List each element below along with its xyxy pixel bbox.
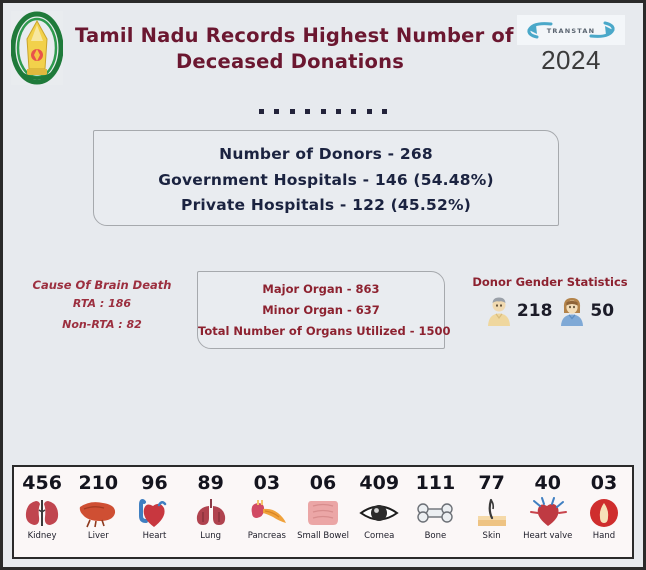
organ-count: 06 bbox=[310, 472, 336, 494]
dot-divider bbox=[3, 103, 643, 117]
organ-label: Hand bbox=[593, 531, 615, 541]
organ-label: Kidney bbox=[28, 531, 57, 541]
major-organ-line: Major Organ - 863 bbox=[198, 279, 444, 300]
rta-row: RTA : 186 bbox=[17, 293, 187, 314]
title-line-1: Tamil Nadu Records Highest Number of bbox=[75, 23, 505, 49]
organ-cell-cornea: 409 Cornea bbox=[351, 467, 407, 557]
organ-count: 111 bbox=[416, 472, 456, 494]
small-bowel-icon bbox=[301, 496, 345, 530]
hand-icon bbox=[582, 496, 626, 530]
donor-gender-statistics-title: Donor Gender Statistics bbox=[465, 274, 635, 290]
poster-header: Tamil Nadu Records Highest Number of Dec… bbox=[3, 3, 643, 95]
organ-count: 03 bbox=[591, 472, 617, 494]
organ-label: Liver bbox=[88, 531, 109, 541]
divider-dot bbox=[382, 109, 387, 114]
divider-dot bbox=[305, 109, 310, 114]
divider-dot bbox=[336, 109, 341, 114]
organ-cell-hand: 03 Hand bbox=[576, 467, 632, 557]
organ-cell-heart: 96 Heart bbox=[126, 467, 182, 557]
divider-dot bbox=[274, 109, 279, 114]
pancreas-icon bbox=[245, 496, 289, 530]
male-donor-count: 218 bbox=[517, 301, 553, 321]
transtan-logo-icon: TRANSTAN bbox=[517, 15, 625, 45]
bone-icon bbox=[413, 496, 457, 530]
female-person-icon bbox=[559, 296, 585, 326]
gender-counts-row: 218 50 bbox=[465, 296, 635, 326]
organ-count: 89 bbox=[197, 472, 223, 494]
infographic-poster: Tamil Nadu Records Highest Number of Dec… bbox=[0, 0, 646, 570]
liver-icon bbox=[76, 496, 120, 530]
organ-cell-lung: 89 Lung bbox=[183, 467, 239, 557]
divider-dot bbox=[367, 109, 372, 114]
organ-count: 40 bbox=[535, 472, 561, 494]
brand-year: 2024 bbox=[515, 46, 627, 74]
svg-text:TRANSTAN: TRANSTAN bbox=[547, 27, 596, 35]
organ-label: Cornea bbox=[364, 531, 394, 541]
lung-icon bbox=[189, 496, 233, 530]
donors-summary-panel: Number of Donors - 268 Government Hospit… bbox=[93, 130, 559, 226]
divider-dot bbox=[321, 109, 326, 114]
divider-dot bbox=[259, 109, 264, 114]
organ-count: 409 bbox=[359, 472, 399, 494]
cause-of-brain-death-block: Cause Of Brain Death RTA : 186 Non-RTA :… bbox=[17, 277, 187, 335]
organs-utilized-strip: 456 Kidney 210 Liver 96 bbox=[12, 465, 634, 559]
organ-label: Lung bbox=[200, 531, 221, 541]
organ-label: Bone bbox=[425, 531, 447, 541]
heart-icon bbox=[132, 496, 176, 530]
donors-total-line: Number of Donors - 268 bbox=[94, 142, 558, 168]
organ-cell-kidney: 456 Kidney bbox=[14, 467, 70, 557]
skin-icon bbox=[470, 496, 514, 530]
minor-organ-line: Minor Organ - 637 bbox=[198, 300, 444, 321]
organ-label: Pancreas bbox=[248, 531, 286, 541]
organs-summary-panel: Major Organ - 863 Minor Organ - 637 Tota… bbox=[197, 271, 445, 349]
organ-count: 210 bbox=[78, 472, 118, 494]
organ-cell-skin: 77 Skin bbox=[464, 467, 520, 557]
heart-valve-icon bbox=[526, 496, 570, 530]
tamil-nadu-government-emblem bbox=[11, 11, 63, 85]
private-hospitals-line: Private Hospitals - 122 (45.52%) bbox=[94, 193, 558, 219]
brand-block: TRANSTAN 2024 bbox=[515, 15, 627, 74]
kidney-icon bbox=[20, 496, 64, 530]
male-person-icon bbox=[486, 296, 512, 326]
organ-count: 96 bbox=[141, 472, 167, 494]
female-donor-stat: 50 bbox=[559, 296, 614, 326]
organ-cell-liver: 210 Liver bbox=[70, 467, 126, 557]
organ-count: 03 bbox=[254, 472, 280, 494]
male-donor-stat: 218 bbox=[486, 296, 553, 326]
title-line-2: Deceased Donations bbox=[75, 49, 505, 75]
organ-cell-bone: 111 Bone bbox=[407, 467, 463, 557]
female-donor-count: 50 bbox=[590, 301, 614, 321]
organ-count: 77 bbox=[478, 472, 504, 494]
organ-cell-pancreas: 03 Pancreas bbox=[239, 467, 295, 557]
non-rta-row: Non-RTA : 82 bbox=[17, 314, 187, 335]
donor-gender-statistics-block: Donor Gender Statistics 218 bbox=[465, 274, 635, 326]
divider-dot bbox=[290, 109, 295, 114]
cause-of-brain-death-title: Cause Of Brain Death bbox=[17, 277, 187, 293]
cornea-eye-icon bbox=[357, 496, 401, 530]
organ-cell-heart-valve: 40 Heart valve bbox=[520, 467, 576, 557]
organ-label: Skin bbox=[483, 531, 501, 541]
government-hospitals-line: Government Hospitals - 146 (54.48%) bbox=[94, 168, 558, 194]
organ-count: 456 bbox=[22, 472, 62, 494]
total-organs-line: Total Number of Organs Utilized - 1500 bbox=[198, 321, 444, 342]
organ-label: Heart valve bbox=[523, 531, 572, 541]
divider-dot bbox=[351, 109, 356, 114]
organ-label: Heart bbox=[143, 531, 167, 541]
organ-cell-small-bowel: 06 Small Bowel bbox=[295, 467, 351, 557]
page-title: Tamil Nadu Records Highest Number of Dec… bbox=[75, 23, 505, 75]
organ-label: Small Bowel bbox=[297, 531, 349, 541]
